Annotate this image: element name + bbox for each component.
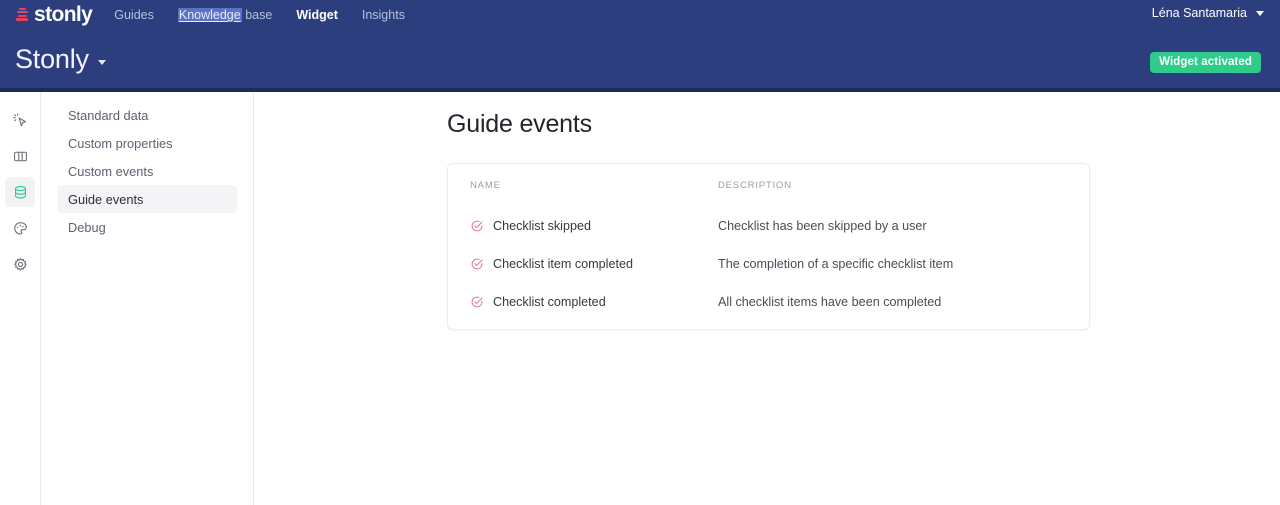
table-body: Checklist skipped Checklist has been ski…: [448, 191, 1089, 321]
table-row[interactable]: Checklist completed All checklist items …: [448, 283, 1089, 321]
user-menu[interactable]: Léna Santamaria: [1152, 6, 1264, 20]
column-header-description: DESCRIPTION: [718, 180, 1067, 191]
icon-rail: [0, 92, 41, 505]
nav-link-guides[interactable]: Guides: [114, 8, 154, 22]
gear-icon[interactable]: [5, 249, 35, 279]
nav-link-knowledge-base-selected-text: Knowledge: [178, 8, 242, 22]
sidebar-item-debug[interactable]: Debug: [57, 213, 237, 241]
check-circle-icon: [470, 219, 484, 233]
event-description: The completion of a specific checklist i…: [718, 257, 1067, 271]
workspace-switcher[interactable]: Stonly: [15, 44, 106, 75]
check-circle-icon: [470, 295, 484, 309]
event-description: Checklist has been skipped by a user: [718, 219, 1067, 233]
column-header-name: NAME: [470, 180, 718, 191]
sidebar-item-standard-data[interactable]: Standard data: [57, 101, 237, 129]
event-name: Checklist skipped: [493, 219, 591, 233]
sidebar-item-custom-events[interactable]: Custom events: [57, 157, 237, 185]
status-badge[interactable]: Widget activated: [1150, 52, 1261, 73]
workspace-name: Stonly: [15, 44, 89, 75]
table-header-row: NAME DESCRIPTION: [448, 164, 1089, 191]
table-row[interactable]: Checklist item completed The completion …: [448, 245, 1089, 283]
sidebar-item-custom-properties[interactable]: Custom properties: [57, 129, 237, 157]
cell-name: Checklist skipped: [470, 219, 718, 233]
sidebar-item-guide-events[interactable]: Guide events: [57, 185, 237, 213]
stonly-logo-icon: [16, 8, 29, 23]
nav-links: Guides Knowledge base Widget Insights: [114, 8, 405, 22]
event-name: Checklist item completed: [493, 257, 633, 271]
top-header-bar: stonly Guides Knowledge base Widget Insi…: [0, 0, 1280, 88]
stonly-logo[interactable]: stonly: [16, 3, 92, 27]
check-circle-icon: [470, 257, 484, 271]
cell-name: Checklist item completed: [470, 257, 718, 271]
cell-name: Checklist completed: [470, 295, 718, 309]
primary-nav: stonly Guides Knowledge base Widget Insi…: [0, 0, 1280, 30]
nav-link-knowledge-base[interactable]: Knowledge base: [178, 8, 272, 22]
palette-icon[interactable]: [5, 213, 35, 243]
nav-link-widget[interactable]: Widget: [296, 8, 338, 22]
guide-events-table-card: NAME DESCRIPTION Checklist skipped Check…: [447, 163, 1090, 330]
user-name-label: Léna Santamaria: [1152, 6, 1247, 20]
settings-sidebar: Standard data Custom properties Custom e…: [41, 92, 254, 505]
table-row[interactable]: Checklist skipped Checklist has been ski…: [448, 207, 1089, 245]
main-content: Guide events NAME DESCRIPTION Checklist …: [255, 92, 1280, 505]
layout-columns-icon[interactable]: [5, 141, 35, 171]
nav-link-insights[interactable]: Insights: [362, 8, 405, 22]
event-description: All checklist items have been completed: [718, 295, 1067, 309]
page-title: Guide events: [447, 110, 592, 139]
caret-down-icon: [98, 60, 106, 65]
event-name: Checklist completed: [493, 295, 606, 309]
logo-text: stonly: [34, 3, 92, 27]
click-targeting-icon[interactable]: [5, 105, 35, 135]
chevron-down-icon: [1256, 11, 1264, 16]
database-icon[interactable]: [5, 177, 35, 207]
